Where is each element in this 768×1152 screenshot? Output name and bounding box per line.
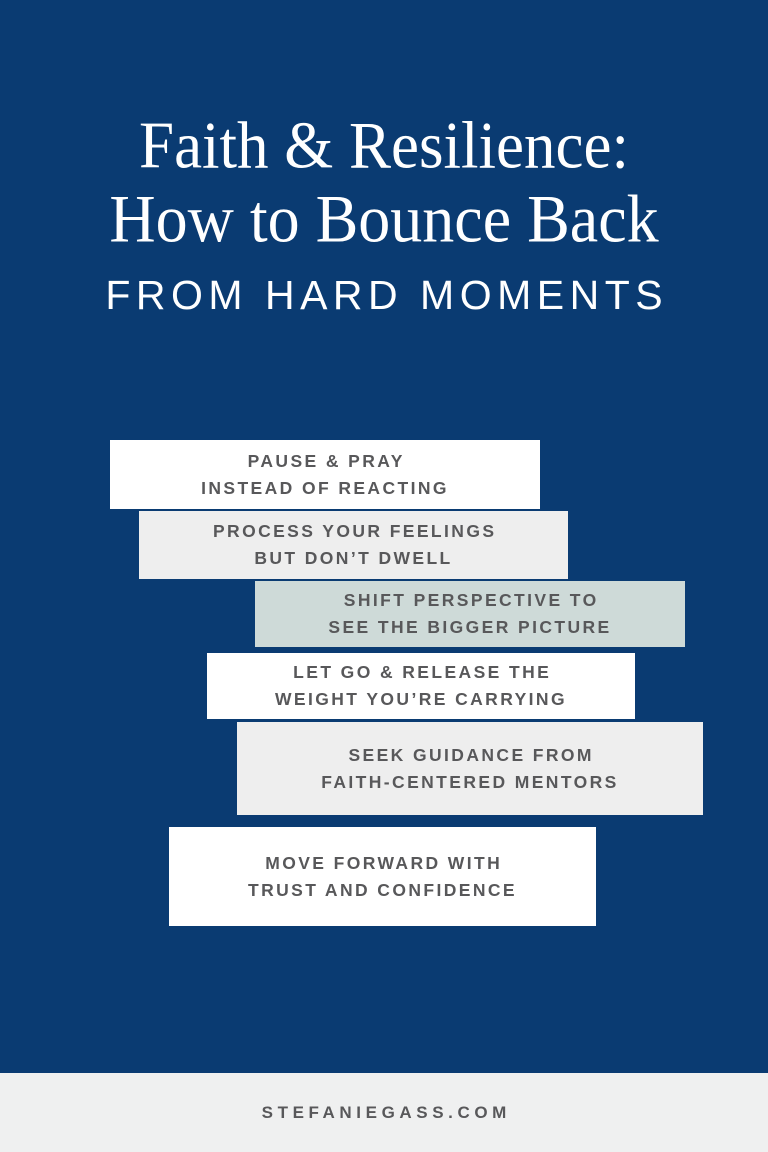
step-card-3: SHIFT PERSPECTIVE TO SEE THE BIGGER PICT… xyxy=(255,581,685,647)
step-card-stack: PAUSE & PRAY INSTEAD OF REACTING PROCESS… xyxy=(0,0,768,1152)
step-card-6-text: MOVE FORWARD WITH TRUST AND CONFIDENCE xyxy=(248,850,517,904)
footer-website-text: STEFANIEGASS.COM xyxy=(257,1103,511,1123)
step-card-4-text: LET GO & RELEASE THE WEIGHT YOU’RE CARRY… xyxy=(275,659,567,713)
step-card-3-text: SHIFT PERSPECTIVE TO SEE THE BIGGER PICT… xyxy=(328,587,611,641)
footer-band: STEFANIEGASS.COM xyxy=(0,1073,768,1152)
step-card-1-text: PAUSE & PRAY INSTEAD OF REACTING xyxy=(201,448,449,502)
step-card-1: PAUSE & PRAY INSTEAD OF REACTING xyxy=(110,440,540,509)
step-card-2: PROCESS YOUR FEELINGS BUT DON’T DWELL xyxy=(139,511,568,579)
step-card-6: MOVE FORWARD WITH TRUST AND CONFIDENCE xyxy=(169,827,596,926)
step-card-5: SEEK GUIDANCE FROM FAITH-CENTERED MENTOR… xyxy=(237,722,703,815)
step-card-4: LET GO & RELEASE THE WEIGHT YOU’RE CARRY… xyxy=(207,653,635,719)
pin-graphic-canvas: Faith & Resilience: How to Bounce Back F… xyxy=(0,0,768,1152)
step-card-5-text: SEEK GUIDANCE FROM FAITH-CENTERED MENTOR… xyxy=(321,742,618,796)
step-card-2-text: PROCESS YOUR FEELINGS BUT DON’T DWELL xyxy=(211,518,497,572)
